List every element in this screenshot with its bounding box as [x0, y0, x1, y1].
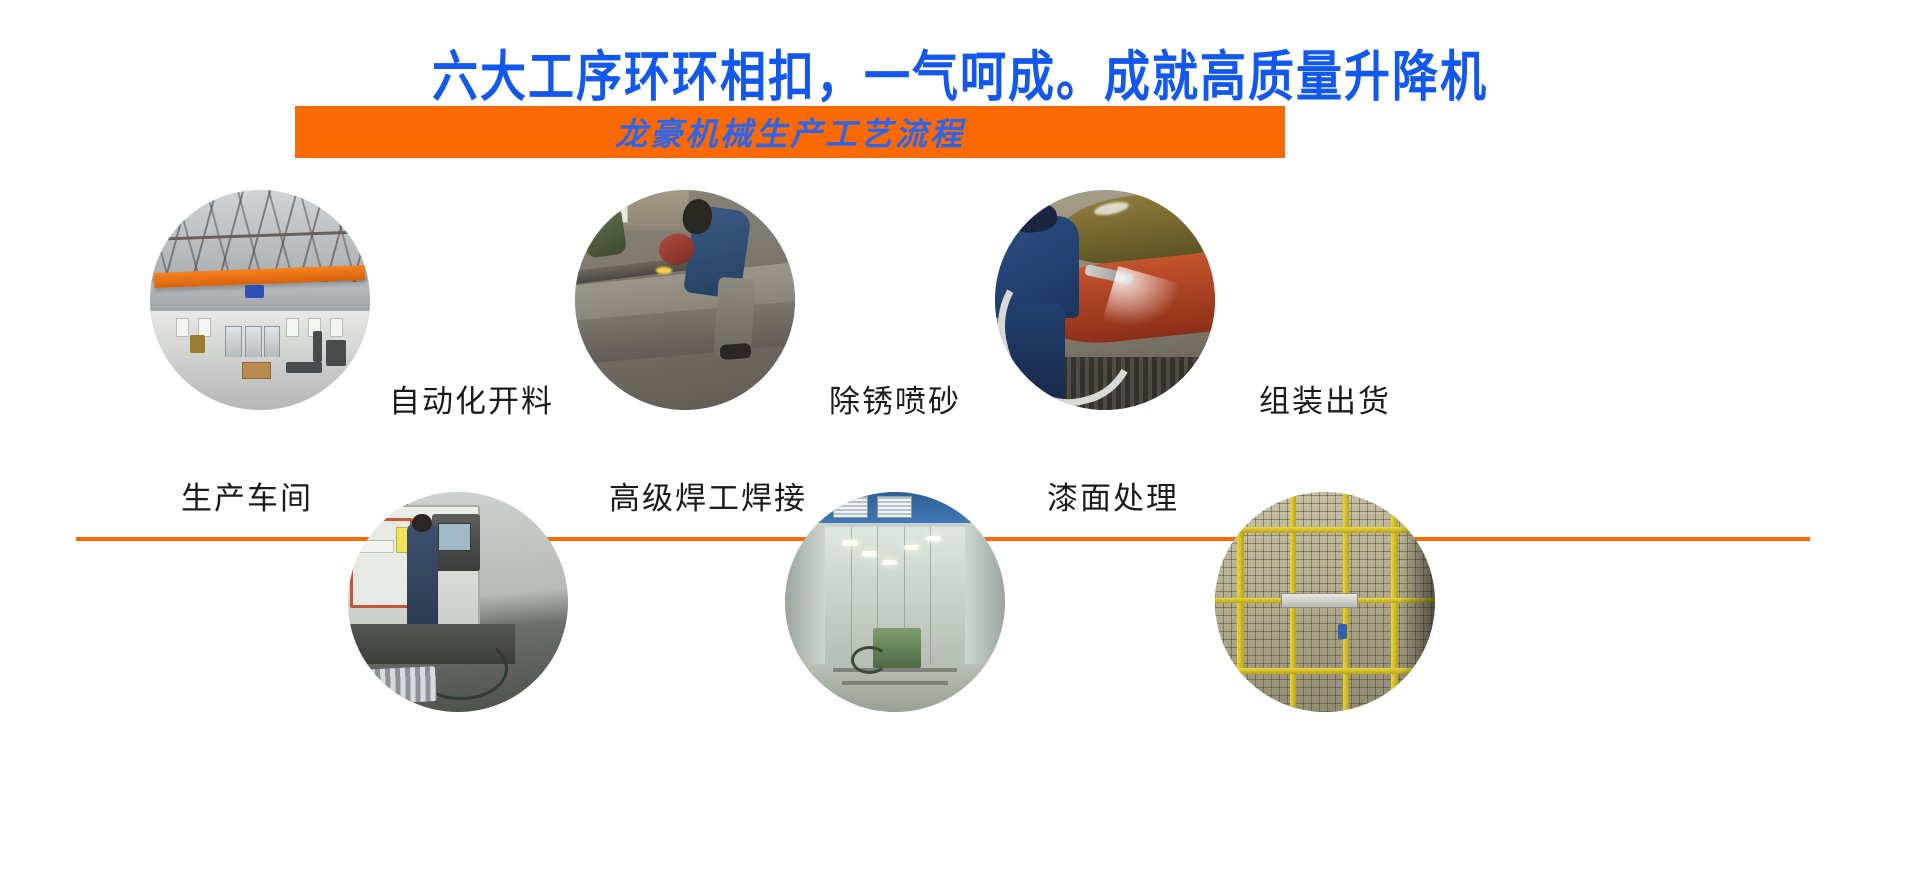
step-label-welding: 高级焊工焊接 — [609, 473, 807, 518]
step-label-workshop: 生产车间 — [181, 473, 313, 518]
sandblasting-photo — [995, 190, 1215, 410]
step-label-blasting: 除锈喷砂 — [829, 376, 961, 421]
step-label-cutting: 自动化开料 — [389, 376, 554, 421]
section-banner: 龙豪机械生产工艺流程 — [295, 106, 1285, 158]
process-flow-poster: 六大工序环环相扣，一气呵成。成就高质量升降机 龙豪机械生产工艺流程 — [0, 0, 1920, 884]
paint-booth-photo — [785, 492, 1005, 712]
step-label-assembly: 组装出货 — [1259, 376, 1391, 421]
assembly-shipping-photo — [1215, 492, 1435, 712]
step-label-painting: 漆面处理 — [1047, 473, 1179, 518]
factory-workshop-photo — [150, 190, 370, 410]
cnc-machining-photo — [348, 492, 568, 712]
page-title: 六大工序环环相扣，一气呵成。成就高质量升降机 — [0, 34, 1920, 112]
section-banner-label: 龙豪机械生产工艺流程 — [295, 106, 1285, 158]
automated-cutting-photo — [575, 190, 795, 410]
